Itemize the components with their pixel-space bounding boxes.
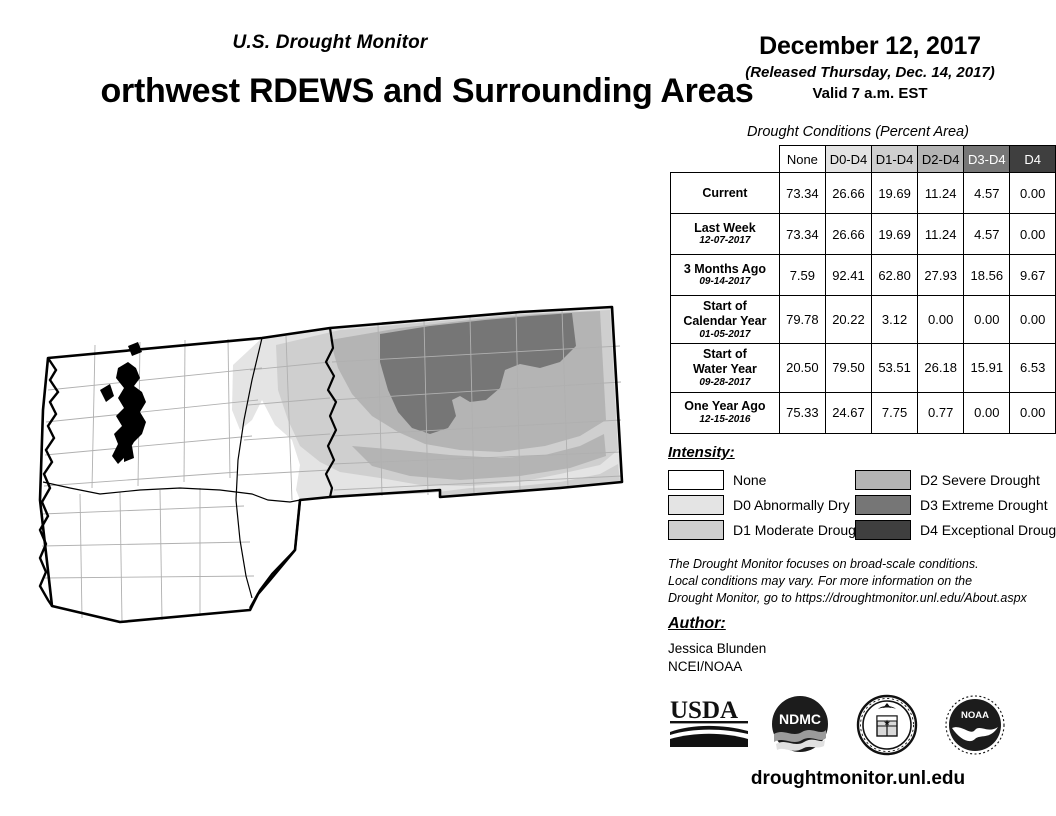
svg-text:NDMC: NDMC (779, 711, 821, 727)
table-row-label: Current (671, 173, 780, 214)
table-column-header-d2-d4: D2-D4 (918, 146, 964, 173)
table-row-date: 01-05-2017 (673, 329, 777, 341)
table-column-header-d1-d4: D1-D4 (872, 146, 918, 173)
legend-item: D2 Severe Drought (855, 468, 1056, 492)
logo-row: USDA NDMC (660, 694, 1056, 764)
valid-time: Valid 7 a.m. EST (700, 85, 1040, 102)
drought-monitor-page: U.S. Drought Monitor orthwest RDEWS and … (0, 0, 1056, 816)
table-row-label: 3 Months Ago09-14-2017 (671, 255, 780, 296)
table-cell-value: 19.69 (872, 173, 918, 214)
table-cell-value: 79.50 (825, 344, 871, 392)
author-organization: NCEI/NOAA (668, 659, 742, 674)
legend-swatch (668, 495, 724, 515)
table-cell-value: 73.34 (779, 214, 825, 255)
table-cell-value: 26.66 (825, 173, 871, 214)
table-cell-value: 20.22 (825, 296, 871, 344)
table-cell-value: 4.57 (964, 214, 1010, 255)
table-column-header-none: None (779, 146, 825, 173)
table-row-date: 12-15-2016 (673, 414, 777, 426)
ndmc-logo: NDMC (770, 694, 830, 759)
table-cell-value: 0.00 (918, 296, 964, 344)
table-cell-value: 26.66 (825, 214, 871, 255)
release-date: (Released Thursday, Dec. 14, 2017) (700, 64, 1040, 81)
legend-item: D1 Moderate Drought (668, 518, 868, 542)
table-cell-value: 0.00 (1010, 296, 1056, 344)
table-cell-value: 9.67 (1010, 255, 1056, 296)
table-cell-value: 19.69 (872, 214, 918, 255)
svg-text:NOAA: NOAA (961, 710, 989, 721)
legend-swatch (855, 470, 911, 490)
table-cell-value: 18.56 (964, 255, 1010, 296)
table-cell-value: 4.57 (964, 173, 1010, 214)
table-cell-value: 0.77 (918, 392, 964, 433)
usdc-seal-logo: ★ (856, 694, 918, 761)
table-cell-value: 62.80 (872, 255, 918, 296)
drought-conditions-table: NoneD0-D4D1-D4D2-D4D3-D4D4 Current73.342… (670, 145, 1056, 434)
svg-text:★: ★ (884, 719, 891, 727)
legend-label: None (733, 472, 766, 488)
table-row-date: 12-07-2017 (673, 235, 777, 247)
legend-swatch (668, 520, 724, 540)
usda-logo: USDA (668, 694, 752, 755)
legend-item: D4 Exceptional Drought (855, 518, 1056, 542)
table-cell-value: 0.00 (1010, 173, 1056, 214)
table-row-label: Start ofCalendar Year01-05-2017 (671, 296, 780, 344)
legend-column-2: D2 Severe DroughtD3 Extreme DroughtD4 Ex… (855, 468, 1056, 543)
table-cell-value: 7.75 (872, 392, 918, 433)
table-cell-value: 15.91 (964, 344, 1010, 392)
table-row: Last Week12-07-201773.3426.6619.6911.244… (671, 214, 1056, 255)
table-cell-value: 3.12 (872, 296, 918, 344)
table-cell-value: 53.51 (872, 344, 918, 392)
table-cell-value: 0.00 (1010, 214, 1056, 255)
table-row-label: Start ofWater Year09-28-2017 (671, 344, 780, 392)
table-cell-value: 26.18 (918, 344, 964, 392)
table-row: 3 Months Ago09-14-20177.5992.4162.8027.9… (671, 255, 1056, 296)
author-name: Jessica Blunden (668, 641, 766, 656)
table-row-label: One Year Ago12-15-2016 (671, 392, 780, 433)
table-column-header-d0-d4: D0-D4 (825, 146, 871, 173)
legend-swatch (855, 495, 911, 515)
legend-label: D0 Abnormally Dry (733, 497, 850, 513)
site-url: droughtmonitor.unl.edu (660, 768, 1056, 790)
table-cell-value: 27.93 (918, 255, 964, 296)
table-row: Current73.3426.6619.6911.244.570.00 (671, 173, 1056, 214)
table-cell-value: 20.50 (779, 344, 825, 392)
legend-label: D2 Severe Drought (920, 472, 1040, 488)
table-cell-value: 11.24 (918, 173, 964, 214)
author-label: Author: (668, 615, 726, 633)
drought-map (0, 250, 660, 650)
table-row: One Year Ago12-15-201675.3324.677.750.77… (671, 392, 1056, 433)
table-cell-value: 92.41 (825, 255, 871, 296)
noaa-logo: NOAA (944, 694, 1006, 761)
table-row: Start ofCalendar Year01-05-201779.7820.2… (671, 296, 1056, 344)
table-cell-value: 11.24 (918, 214, 964, 255)
legend-swatch (855, 520, 911, 540)
legend-item: D3 Extreme Drought (855, 493, 1056, 517)
table-header-row: NoneD0-D4D1-D4D2-D4D3-D4D4 (671, 146, 1056, 173)
legend-title: Intensity: (668, 444, 735, 461)
table-row-date: 09-28-2017 (673, 377, 777, 389)
table-corner-cell (671, 146, 780, 173)
legend-item: D0 Abnormally Dry (668, 493, 868, 517)
table-row-date: 09-14-2017 (673, 276, 777, 288)
table-cell-value: 7.59 (779, 255, 825, 296)
table-column-header-d4: D4 (1010, 146, 1056, 173)
map-date: December 12, 2017 (700, 32, 1040, 61)
table-cell-value: 0.00 (964, 296, 1010, 344)
table-body: Current73.3426.6619.6911.244.570.00Last … (671, 173, 1056, 434)
legend-column-1: NoneD0 Abnormally DryD1 Moderate Drought (668, 468, 868, 543)
legend-item: None (668, 468, 868, 492)
table-column-header-d3-d4: D3-D4 (964, 146, 1010, 173)
header-subtitle: U.S. Drought Monitor (0, 32, 660, 54)
table-cell-value: 75.33 (779, 392, 825, 433)
map-svg (0, 250, 660, 650)
table-cell-value: 24.67 (825, 392, 871, 433)
table-cell-value: 79.78 (779, 296, 825, 344)
table-caption: Drought Conditions (Percent Area) (660, 124, 1056, 140)
table-cell-value: 73.34 (779, 173, 825, 214)
disclaimer-text: The Drought Monitor focuses on broad-sca… (668, 556, 1048, 607)
legend-label: D1 Moderate Drought (733, 522, 868, 538)
table-cell-value: 6.53 (1010, 344, 1056, 392)
table-row-label: Last Week12-07-2017 (671, 214, 780, 255)
table-cell-value: 0.00 (964, 392, 1010, 433)
legend-label: D4 Exceptional Drought (920, 522, 1056, 538)
legend-swatch (668, 470, 724, 490)
table-row: Start ofWater Year09-28-201720.5079.5053… (671, 344, 1056, 392)
legend-label: D3 Extreme Drought (920, 497, 1048, 513)
svg-text:USDA: USDA (670, 697, 738, 724)
table-cell-value: 0.00 (1010, 392, 1056, 433)
